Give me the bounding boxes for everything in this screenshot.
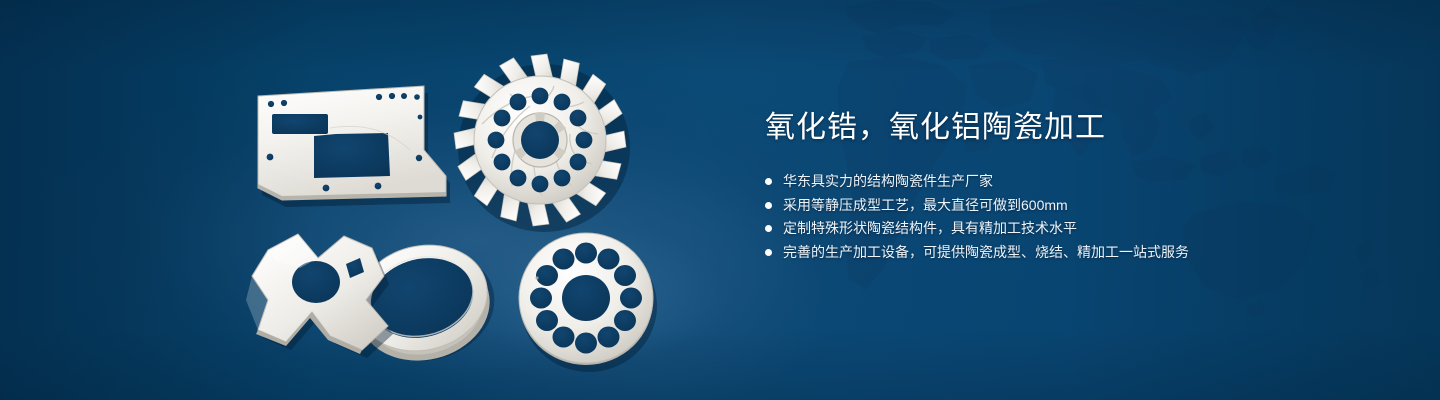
- list-item: 华东具实力的结构陶瓷件生产厂家: [765, 170, 1405, 194]
- list-item-label: 华东具实力的结构陶瓷件生产厂家: [783, 170, 993, 194]
- list-item: 采用等静压成型工艺，最大直径可做到600mm: [765, 194, 1405, 218]
- feature-list: 华东具实力的结构陶瓷件生产厂家 采用等静压成型工艺，最大直径可做到600mm 定…: [765, 170, 1405, 264]
- list-item-label: 采用等静压成型工艺，最大直径可做到600mm: [783, 194, 1068, 218]
- list-item: 完善的生产加工设备，可提供陶瓷成型、烧结、精加工一站式服务: [765, 241, 1405, 265]
- list-item: 定制特殊形状陶瓷结构件，具有精加工技术水平: [765, 217, 1405, 241]
- list-item-label: 定制特殊形状陶瓷结构件，具有精加工技术水平: [783, 217, 1077, 241]
- bullet-dot-icon: [765, 225, 772, 232]
- list-item-label: 完善的生产加工设备，可提供陶瓷成型、烧结、精加工一站式服务: [783, 241, 1189, 265]
- banner-copy: 氧化锆，氧化铝陶瓷加工 华东具实力的结构陶瓷件生产厂家 采用等静压成型工艺，最大…: [765, 108, 1405, 264]
- bullet-dot-icon: [765, 178, 772, 185]
- bullet-dot-icon: [765, 202, 772, 209]
- bullet-dot-icon: [765, 249, 772, 256]
- page-title: 氧化锆，氧化铝陶瓷加工: [765, 108, 1405, 148]
- promo-banner: 氧化锆，氧化铝陶瓷加工 华东具实力的结构陶瓷件生产厂家 采用等静压成型工艺，最大…: [0, 0, 1440, 400]
